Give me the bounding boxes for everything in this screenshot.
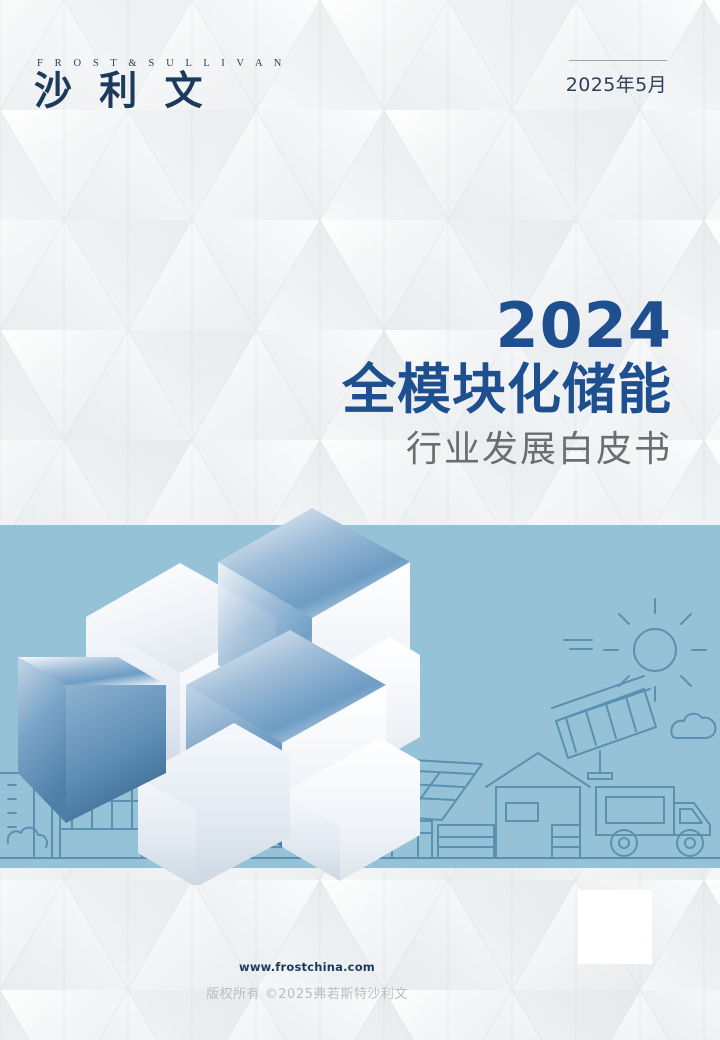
- date-text: 2025年5月: [566, 70, 667, 97]
- house: [486, 753, 590, 858]
- cover-header: F R O S T & S U L L I V A N 沙 利 文 2025年5…: [0, 0, 720, 150]
- cloud-icon: [671, 714, 715, 738]
- title-main: 全模块化储能: [342, 362, 672, 417]
- cover-footer: www.frostchina.com 版权所有 ©2025弗若斯特沙利文: [0, 960, 720, 1002]
- solar-panel-pole: [552, 676, 656, 779]
- website-url[interactable]: www.frostchina.com: [0, 960, 614, 974]
- logo-chinese-name: 沙 利 文: [34, 70, 286, 112]
- storage-cabinets: [418, 821, 494, 858]
- cover-title: 2024 全模块化储能 行业发展白皮书: [342, 296, 672, 468]
- electric-truck: [596, 787, 710, 856]
- qr-code-placeholder[interactable]: [578, 890, 652, 964]
- publication-date: 2025年5月: [566, 60, 667, 97]
- brand-logo: F R O S T & S U L L I V A N 沙 利 文: [34, 58, 286, 110]
- wind-dashes: [564, 640, 592, 649]
- whitepaper-cover: F R O S T & S U L L I V A N 沙 利 文 2025年5…: [0, 0, 720, 1040]
- copyright-text: 版权所有 ©2025弗若斯特沙利文: [0, 983, 614, 1002]
- title-year: 2024: [342, 296, 672, 356]
- title-subtitle: 行业发展白皮书: [342, 431, 672, 469]
- modular-cube-graphic: [0, 505, 420, 885]
- sun-icon: [604, 599, 706, 701]
- cube-cluster-svg: [0, 505, 420, 885]
- date-divider-rule: [569, 60, 667, 61]
